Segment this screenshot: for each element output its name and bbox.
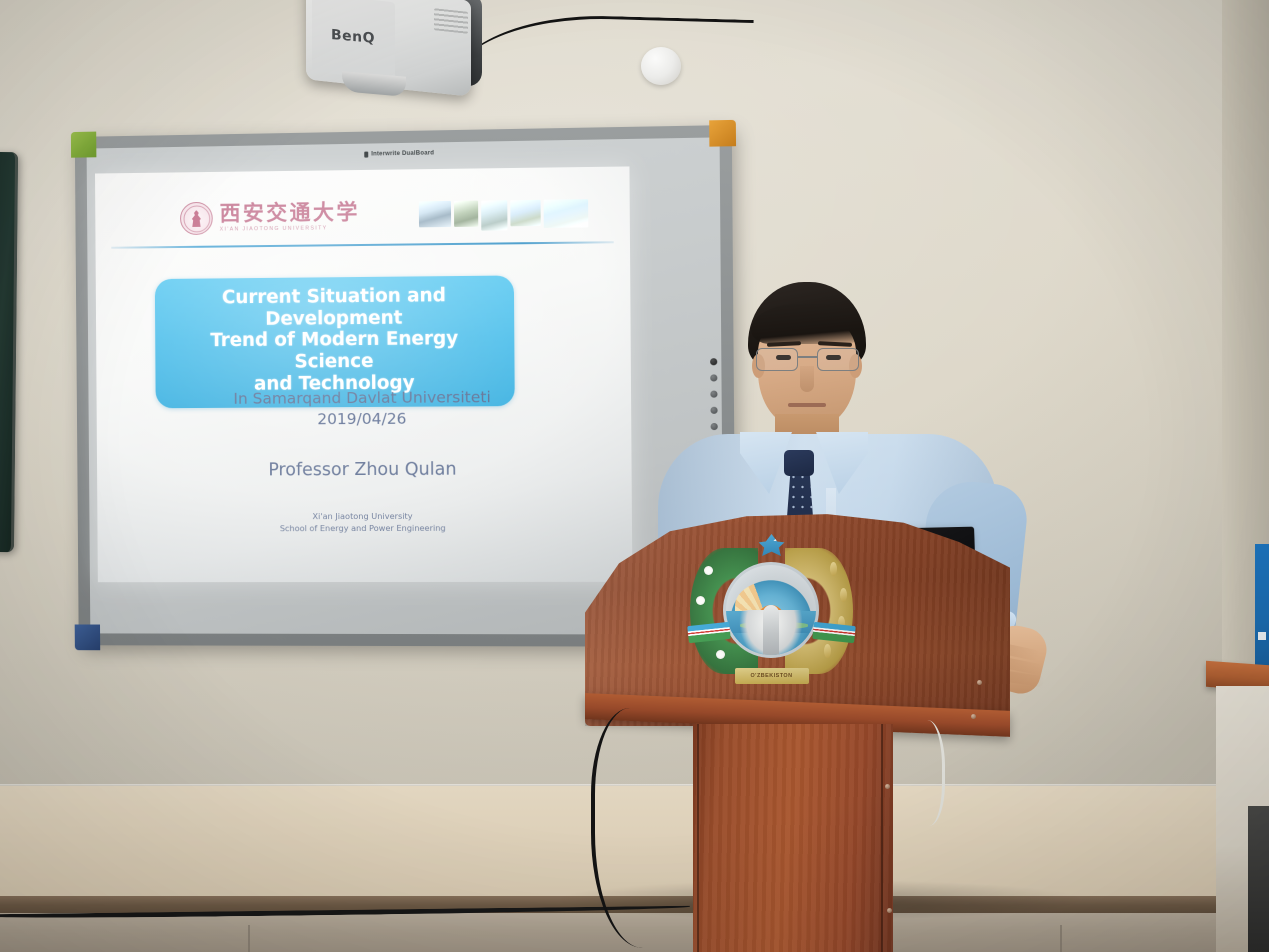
university-seal-icon: [180, 202, 213, 235]
whiteboard-brand-label: Interwrite DualBoard: [364, 150, 434, 157]
podium-column-grain: [693, 724, 893, 952]
glasses-lens-left: [756, 348, 798, 371]
slide-presenter: Professor Zhou Qulan: [97, 459, 632, 481]
podium-white-cable: [905, 720, 945, 826]
slide-header-divider: [111, 241, 613, 248]
glasses-lens-right: [817, 348, 859, 371]
whiteboard-corner-bottom-left: [75, 624, 101, 650]
lecture-hall-photo: BenQ Interwrite DualBoard: [0, 0, 1269, 952]
podium-panel-shading: [585, 512, 1010, 726]
necktie-knot: [784, 450, 814, 476]
podium-screw: [887, 908, 892, 913]
slide-title-line-1: Current Situation and Development: [171, 285, 498, 331]
slide-date: 2019/04/26: [97, 407, 632, 431]
slide-affiliation-block: Xi'an Jiaotong University School of Ener…: [97, 510, 632, 535]
projector-vent: [434, 8, 468, 34]
speaker-hair-fringe: [751, 304, 863, 344]
slide-header: 西安交通大学 XI'AN JIAOTONG UNIVERSITY: [95, 175, 630, 245]
slide-title-line-2: Trend of Modern Energy Science: [171, 328, 498, 374]
blue-wall-object: [1255, 544, 1269, 674]
lectern-podium: O'ZBEKISTON: [585, 502, 1010, 952]
slide-venue-block: In Samarqand Davlat Universiteti 2019/04…: [97, 386, 632, 431]
projector-lens: [342, 71, 406, 97]
whiteboard-brand-glyph: [364, 152, 368, 158]
campus-photo-2: [454, 201, 478, 227]
right-dark-furniture: [1248, 806, 1269, 952]
university-logo-text: 西安交通大学 XI'AN JIAOTONG UNIVERSITY: [220, 202, 360, 233]
podium-black-cable: [591, 708, 699, 948]
campus-photo-5: [544, 199, 589, 228]
campus-photo-1: [419, 201, 451, 227]
podium-screw: [885, 784, 890, 789]
floor-seam: [1060, 925, 1062, 952]
whiteboard-brand-text: Interwrite DualBoard: [371, 150, 434, 157]
university-name-english: XI'AN JIAOTONG UNIVERSITY: [220, 225, 360, 233]
slide-affiliation-line-2: School of Energy and Power Engineering: [97, 522, 632, 535]
speaker-nose: [800, 366, 814, 392]
campus-photo-3: [481, 200, 507, 230]
podium-screw: [977, 680, 982, 685]
campus-photo-4: [510, 200, 540, 226]
floor-seam: [248, 925, 250, 952]
blue-object-marking: [1258, 632, 1266, 640]
glasses-bridge: [798, 356, 817, 358]
university-logo: 西安交通大学 XI'AN JIAOTONG UNIVERSITY: [180, 200, 360, 235]
podium-screw: [971, 714, 976, 719]
whiteboard-corner-top-left: [71, 132, 97, 158]
projected-slide: 西安交通大学 XI'AN JIAOTONG UNIVERSITY Current…: [95, 166, 632, 582]
podium-column-seam-right: [881, 724, 883, 952]
ceiling-projector: BenQ: [306, 0, 478, 104]
projector-brand-plate: BenQ: [312, 0, 395, 80]
projector-brand-label: BenQ: [331, 27, 375, 47]
university-name-chinese: 西安交通大学: [220, 202, 360, 225]
campus-photo-strip: [419, 199, 588, 231]
speaker-mouth: [788, 403, 826, 407]
whiteboard-corner-top-right: [709, 120, 736, 147]
